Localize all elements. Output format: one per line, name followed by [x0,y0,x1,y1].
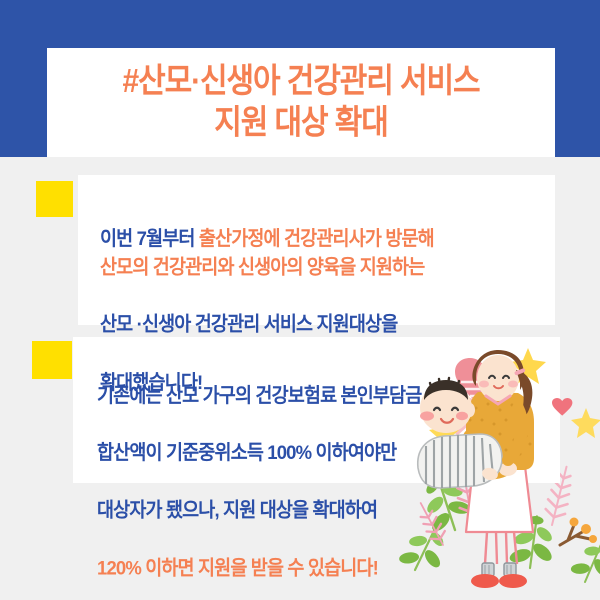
block2-line2: 합산액이 기준중위소득 100% 이하여야만 [97,438,547,467]
title-card: #산모·신생아 건강관리 서비스 지원 대상 확대 [47,48,555,157]
page-title: #산모·신생아 건강관리 서비스 지원 대상 확대 [123,62,480,144]
block2-line3: 대상자가 됐으나, 지원 대상을 확대하여 [97,496,547,525]
block2-line1: 기존에는 산모 가구의 건강보험료 본인부담금 [97,381,547,410]
infographic-card: #산모·신생아 건강관리 서비스 지원 대상 확대 [0,0,600,600]
block1-line1-emphasis: 출산가정에 건강관리사가 방문해 [199,227,434,249]
block1-line1: 이번 7월부터 [100,227,199,249]
yellow-accent-square-2 [32,341,72,379]
block1-line3: 산모 ·신생아 건강관리 서비스 지원대상을 [100,310,530,339]
info-block-2-text: 기존에는 산모 가구의 건강보험료 본인부담금 합산액이 기준중위소득 100%… [97,352,547,600]
yellow-accent-square-1 [36,181,73,217]
block2-line4: 120% 이하면 지원을 받을 수 있습니다! [97,553,547,582]
block1-line2: 산모의 건강관리와 신생아의 양육을 지원하는 [100,252,530,281]
